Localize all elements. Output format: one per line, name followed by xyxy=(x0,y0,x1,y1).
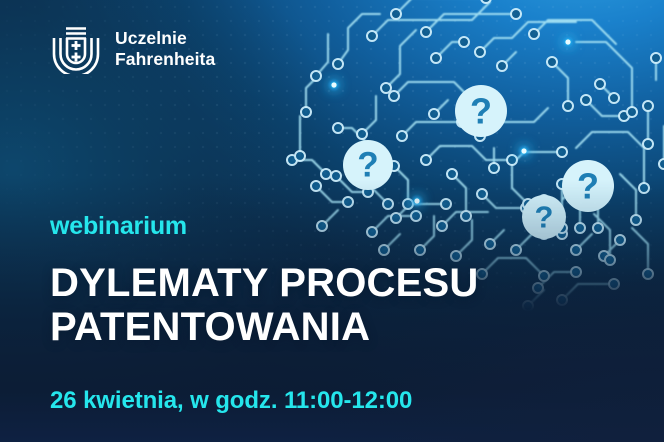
banner-copy: webinarium DYLEMATY PROCESU PATENTOWANIA xyxy=(50,214,610,349)
uczelnie-fahrenheita-emblem-icon xyxy=(50,24,102,74)
brand-logo-text: Uczelnie Fahrenheita xyxy=(115,28,215,71)
event-datetime: 26 kwietnia, w godz. 11:00-12:00 xyxy=(50,389,412,413)
webinar-banner: ? ? ? ? xyxy=(0,0,664,442)
svg-text:?: ? xyxy=(470,91,492,132)
svg-text:?: ? xyxy=(357,146,378,185)
page-title: DYLEMATY PROCESU PATENTOWANIA xyxy=(50,261,610,349)
brand-name-line1: Uczelnie xyxy=(115,28,187,48)
brand-logo[interactable]: Uczelnie Fahrenheita xyxy=(50,24,215,74)
headline-line-2: PATENTOWANIA xyxy=(50,305,610,349)
question-mark-icon: ? xyxy=(343,140,393,190)
svg-text:?: ? xyxy=(577,166,599,207)
event-type-kicker: webinarium xyxy=(50,214,610,239)
question-mark-icon: ? xyxy=(562,160,614,212)
question-mark-icon: ? xyxy=(455,85,507,137)
headline-line-1: DYLEMATY PROCESU xyxy=(50,261,478,305)
brand-name-line2: Fahrenheita xyxy=(115,49,215,69)
